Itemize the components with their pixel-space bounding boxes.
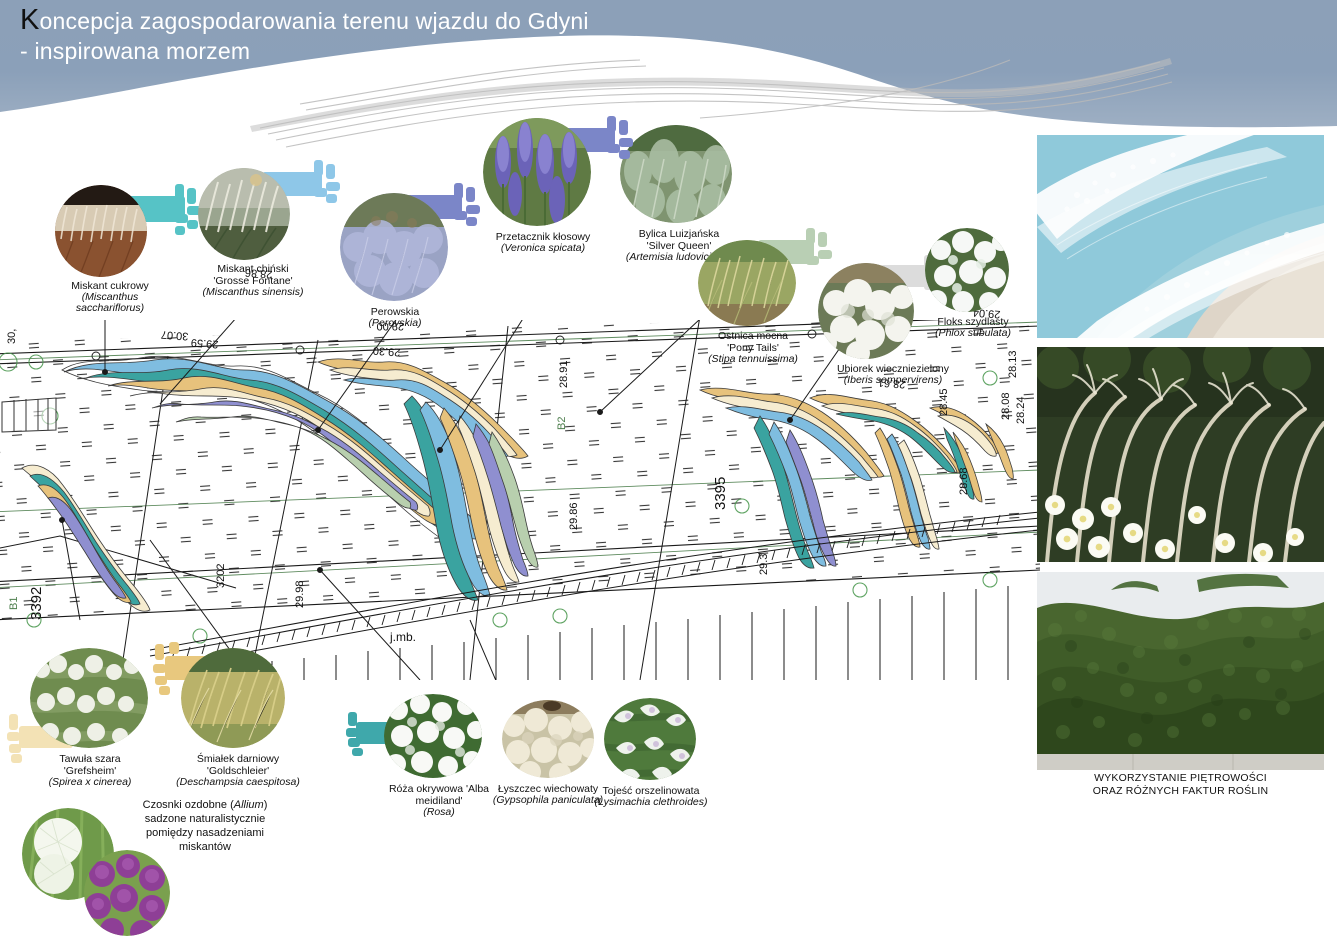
caption-tojesc-orszelinowata: Tojeść orszelinowata (Lysimachia clethro… [592, 785, 710, 808]
title-line-1: oncepcja zagospodarowania terenu wjazdu … [40, 8, 589, 34]
elevation-label: 30.07 [161, 328, 189, 342]
caption-floks-szydlasty: Floks szydlasty (Phlox subulata) [925, 316, 1021, 339]
elevation-label: 28.13 [1007, 350, 1019, 378]
allium-description: Czosnki ozdobne (Allium) sadzone natural… [130, 798, 280, 854]
callout-tawula-szara: Tawuła szara 'Grefsheim' (Spirea x ciner… [30, 648, 150, 788]
plant-photo-przetacznik-klosowy [483, 118, 591, 226]
callout-miskant-chinski: Miskant chiński 'Grosse Fontane' (Miscan… [198, 168, 308, 298]
elevation-label: 28.45 [938, 388, 950, 416]
plant-photo-tojesc-orszelinowata [604, 698, 696, 780]
callout-smialek-darniowy: Śmiałek darniowy 'Goldschleier' (Descham… [173, 648, 303, 788]
callout-miskant-cukrowy: Miskant cukrowy (Miscanthus sacchariflor… [55, 185, 165, 314]
elevation-label: 28.24 [1015, 396, 1027, 424]
plant-photo-lyszczec-wiechowaty [502, 700, 594, 778]
reference-photo-sea-waves-aerial [1037, 135, 1324, 338]
reference-photos-caption: WYKORZYSTANIE PIĘTROWOŚCI ORAZ RÓŻNYCH F… [1037, 772, 1324, 798]
plant-photo-floks-szydlasty [925, 228, 1009, 312]
callout-przetacznik-klosowy: Przetacznik kłosowy (Veronica spicata) [483, 118, 603, 254]
caption-miskant-chinski: Miskant chiński 'Grosse Fontane' (Miscan… [198, 263, 308, 298]
reference-photo-ornamental-grasses [1037, 347, 1324, 562]
reference-photo-wave-hedge [1037, 572, 1324, 770]
plant-photo-roza-okrywowa [384, 694, 482, 778]
caption-miskant-cukrowy: Miskant cukrowy (Miscanthus sacchariflor… [55, 280, 165, 314]
plant-photo-miskant-chinski [198, 168, 290, 260]
elevation-label: 29.86 [568, 502, 580, 530]
elevation-label: 29.59 [191, 336, 219, 350]
elevation-label: 28.08 [1000, 392, 1012, 420]
elevation-label: 29.30 [373, 344, 401, 358]
marker-b2: B2 [556, 417, 568, 430]
callout-roza-okrywowa: Róża okrywowa 'Alba meidiland' (Rosa) [378, 694, 500, 818]
caption-ubiorek-wieczniezielony: Ubiorek wieczniezielony (Iberis sempervi… [818, 363, 968, 386]
elevation-label: 28.91 [558, 360, 570, 388]
caption-roza-okrywowa: Róża okrywowa 'Alba meidiland' (Rosa) [378, 783, 500, 818]
caption-lyszczec-wiechowaty: Łyszczec wiechowaty (Gypsophila panicula… [492, 783, 604, 806]
caption-ostnica-mocna: Ostnica mocna 'Pony Tails' (Stipa tennui… [698, 330, 808, 365]
plant-photo-tawula-szara [30, 648, 148, 748]
plant-photo-allium-purple [84, 850, 170, 936]
caption-perowskia: Perowskia (Perovskia) [340, 306, 450, 329]
callout-perowskia: Perowskia (Perovskia) [340, 193, 450, 329]
callout-tojesc-orszelinowata: Tojeść orszelinowata (Lysimachia clethro… [592, 698, 710, 808]
elevation-label: 29.98 [294, 580, 306, 608]
plant-photo-perowskia [340, 193, 448, 301]
elevation-label: 29.3 [758, 554, 770, 575]
marker-b1: B1 [8, 597, 20, 610]
elevation-label: 28.68 [958, 467, 970, 495]
plant-photo-miskant-cukrowy [55, 185, 147, 277]
presentation-board: Koncepcja zagospodarowania terenu wjazdu… [0, 0, 1337, 942]
parcel-number-small: 3202 [215, 564, 227, 588]
plant-photo-smialek-darniowy [181, 648, 285, 748]
parcel-number-mid: 3395 [712, 477, 729, 510]
page-title: Koncepcja zagospodarowania terenu wjazdu… [20, 6, 880, 66]
title-line-2: - inspirowana morzem [20, 36, 880, 66]
caption-smialek-darniowy: Śmiałek darniowy 'Goldschleier' (Descham… [173, 753, 303, 788]
callout-lyszczec-wiechowaty: Łyszczec wiechowaty (Gypsophila panicula… [492, 700, 604, 806]
parcel-number-left: 3392 [28, 587, 45, 620]
title-initial: K [20, 4, 40, 36]
callout-floks-szydlasty: Floks szydlasty (Phlox subulata) [925, 228, 1021, 339]
caption-przetacznik-klosowy: Przetacznik kłosowy (Veronica spicata) [483, 231, 603, 254]
rail-label: j.mb. [390, 630, 416, 644]
plant-photo-ostnica-mocna [698, 240, 796, 326]
elevation-label: 30, [6, 329, 18, 344]
callout-ostnica-mocna: Ostnica mocna 'Pony Tails' (Stipa tennui… [698, 240, 808, 365]
